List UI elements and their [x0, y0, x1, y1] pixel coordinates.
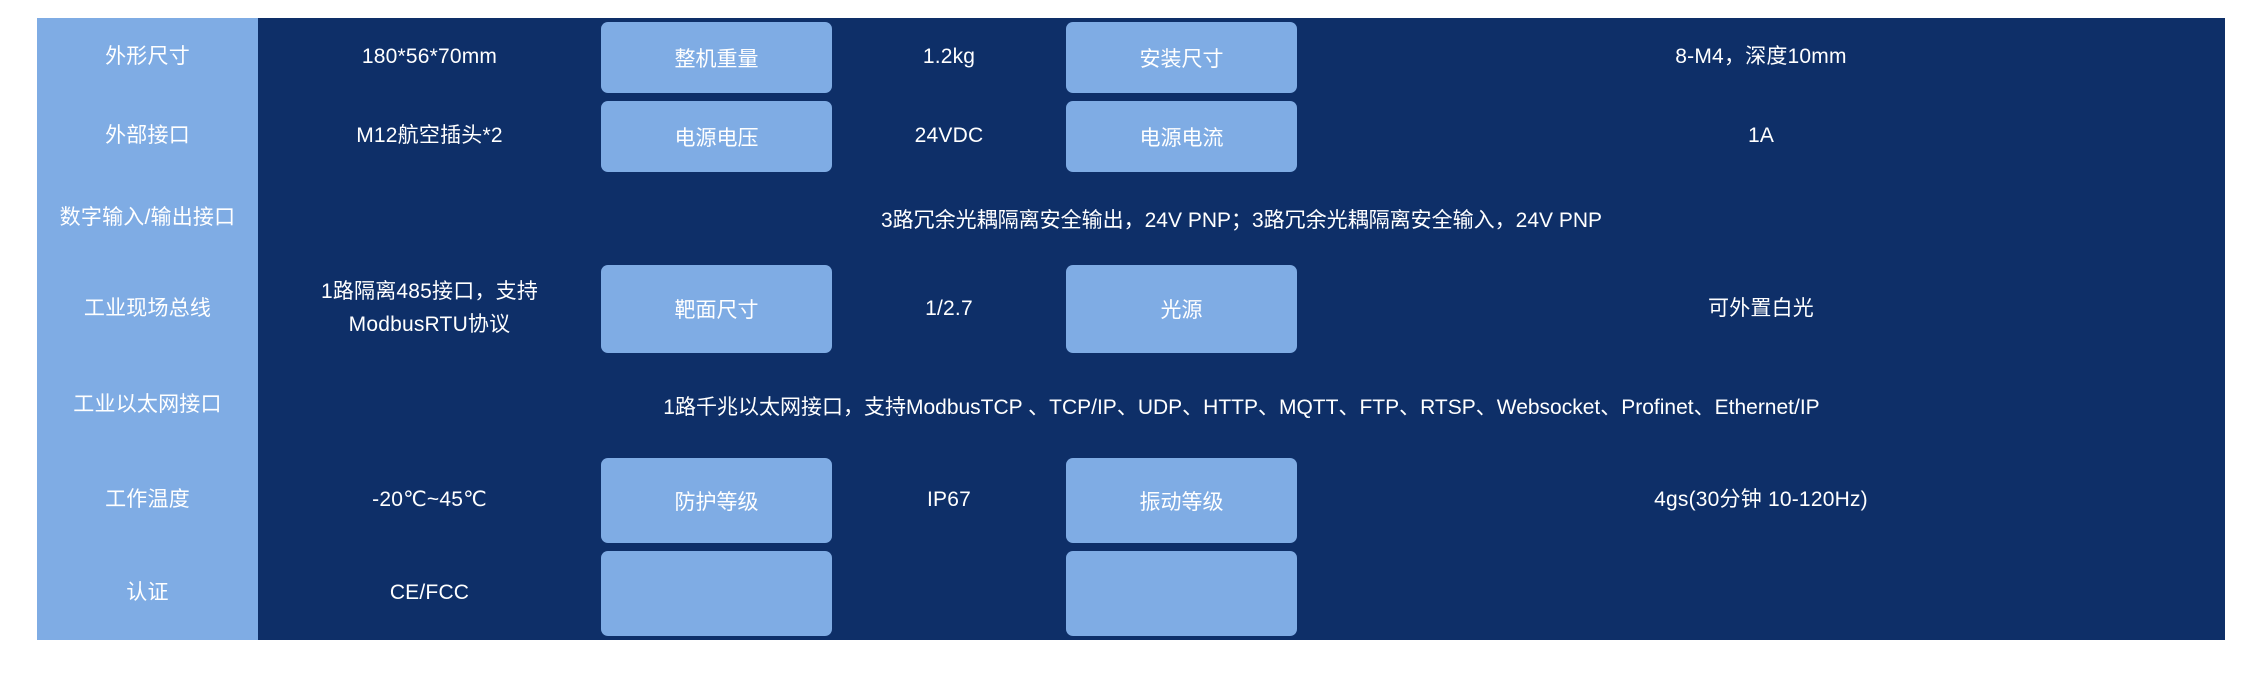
- chip-label-2-wrap: 防护等级: [601, 454, 832, 547]
- row-value-3: 4gs(30分钟 10-120Hz): [1297, 454, 2225, 547]
- chip-label-2-wrap: 靶面尺寸: [601, 261, 832, 357]
- table-row: 工作温度 -20℃~45℃ 防护等级 IP67 振动等级 4gs(30分钟 10…: [37, 454, 2225, 547]
- chip-label-2-wrap: [601, 547, 832, 640]
- row-merged-value: 3路冗余光耦隔离安全输出，24V PNP；3路冗余光耦隔离安全输入，24V PN…: [258, 176, 2225, 261]
- row-label: 工作温度: [37, 454, 258, 547]
- row-value-2: 1/2.7: [832, 261, 1066, 357]
- chip-label-2: 防护等级: [601, 458, 832, 543]
- row-value-3: 可外置白光: [1297, 261, 2225, 357]
- row-value-1-line2: ModbusRTU协议: [349, 313, 511, 336]
- row-value-3: 8-M4，深度10mm: [1297, 18, 2225, 97]
- row-value-2: IP67: [832, 454, 1066, 547]
- chip-label-2: 整机重量: [601, 22, 832, 93]
- table-row: 认证 CE/FCC: [37, 547, 2225, 640]
- row-label: 外形尺寸: [37, 18, 258, 97]
- row-label: 外部接口: [37, 97, 258, 176]
- chip-label-3: 电源电流: [1066, 101, 1297, 172]
- row-value-2: 1.2kg: [832, 18, 1066, 97]
- specification-table: 外形尺寸 180*56*70mm 整机重量 1.2kg 安装尺寸 8-M4，深度…: [37, 18, 2225, 640]
- chip-label-2-wrap: 整机重量: [601, 18, 832, 97]
- row-value-1: 1路隔离485接口，支持 ModbusRTU协议: [258, 261, 601, 357]
- chip-label-3-wrap: 光源: [1066, 261, 1297, 357]
- chip-label-2: 靶面尺寸: [601, 265, 832, 353]
- table-row: 外部接口 M12航空插头*2 电源电压 24VDC 电源电流 1A: [37, 97, 2225, 176]
- table-row: 工业现场总线 1路隔离485接口，支持 ModbusRTU协议 靶面尺寸 1/2…: [37, 261, 2225, 357]
- chip-label-2: [601, 551, 832, 636]
- chip-label-3-wrap: 振动等级: [1066, 454, 1297, 547]
- chip-label-3: 安装尺寸: [1066, 22, 1297, 93]
- chip-label-3: 振动等级: [1066, 458, 1297, 543]
- table-row: 数字输入/输出接口 3路冗余光耦隔离安全输出，24V PNP；3路冗余光耦隔离安…: [37, 176, 2225, 261]
- row-label: 工业现场总线: [37, 261, 258, 357]
- row-label: 数字输入/输出接口: [37, 176, 258, 261]
- row-merged-value: 1路千兆以太网接口，支持ModbusTCP 、TCP/IP、UDP、HTTP、M…: [258, 357, 2225, 454]
- row-label: 工业以太网接口: [37, 357, 258, 454]
- row-value-1: -20℃~45℃: [258, 454, 601, 547]
- row-label: 认证: [37, 547, 258, 640]
- row-value-3: [1297, 547, 2225, 640]
- chip-label-3-wrap: [1066, 547, 1297, 640]
- table-row: 外形尺寸 180*56*70mm 整机重量 1.2kg 安装尺寸 8-M4，深度…: [37, 18, 2225, 97]
- row-value-1: M12航空插头*2: [258, 97, 601, 176]
- chip-label-3-wrap: 电源电流: [1066, 97, 1297, 176]
- chip-label-3-wrap: 安装尺寸: [1066, 18, 1297, 97]
- table-row: 工业以太网接口 1路千兆以太网接口，支持ModbusTCP 、TCP/IP、UD…: [37, 357, 2225, 454]
- row-value-2: 24VDC: [832, 97, 1066, 176]
- row-value-2: [832, 547, 1066, 640]
- row-value-3: 1A: [1297, 97, 2225, 176]
- row-value-1-line1: 1路隔离485接口，支持: [321, 280, 538, 303]
- chip-label-3: [1066, 551, 1297, 636]
- chip-label-2-wrap: 电源电压: [601, 97, 832, 176]
- chip-label-2: 电源电压: [601, 101, 832, 172]
- row-value-1: CE/FCC: [258, 547, 601, 640]
- chip-label-3: 光源: [1066, 265, 1297, 353]
- row-value-1: 180*56*70mm: [258, 18, 601, 97]
